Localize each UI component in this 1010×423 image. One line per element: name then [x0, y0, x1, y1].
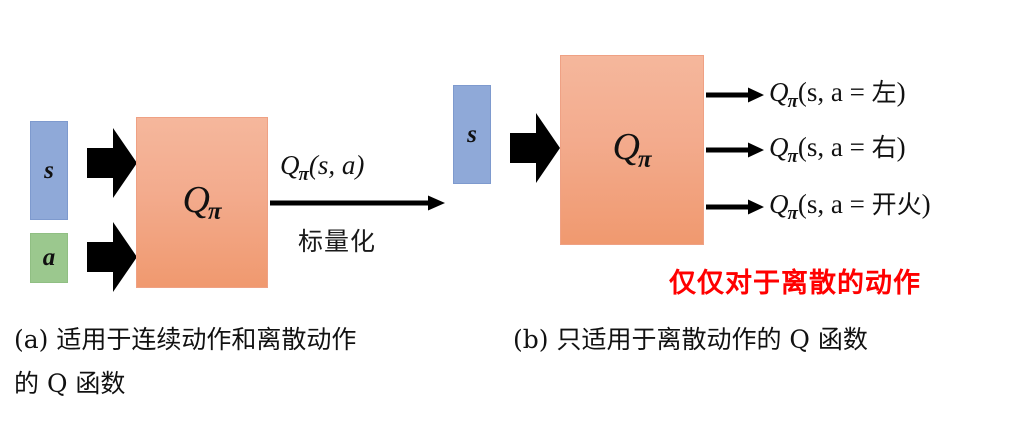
figure-root: s a Qπ Qπ(s, a)	[0, 0, 1010, 423]
panel-b-caption-line1: (b) 只适用于离散动作的 Q 函数	[513, 322, 868, 358]
panel-b-state-block-arrow	[510, 113, 560, 183]
panel-b-output-formula-1: Qπ(s, a = 左)	[769, 79, 906, 111]
panel-b-output-formula-2: Qπ(s, a = 右)	[769, 134, 906, 166]
panel-b-network-label: Qπ	[612, 128, 651, 172]
panel-b-warning-text: 仅仅对于离散的动作	[669, 261, 921, 300]
panel-b-output-arrow-3	[706, 199, 764, 215]
panel-b-state-box: s	[453, 85, 491, 184]
panel-b-state-label: s	[467, 121, 477, 149]
panel-b-output-arrow-1	[706, 87, 764, 103]
panel-b-output-formula-3: Qπ(s, a = 开火)	[769, 191, 931, 223]
panel-b-output-arrow-2	[706, 142, 764, 158]
panel-b: s Qπ Qπ(s, a = 左)	[0, 0, 1010, 423]
panel-b-network-box: Qπ	[560, 55, 704, 245]
